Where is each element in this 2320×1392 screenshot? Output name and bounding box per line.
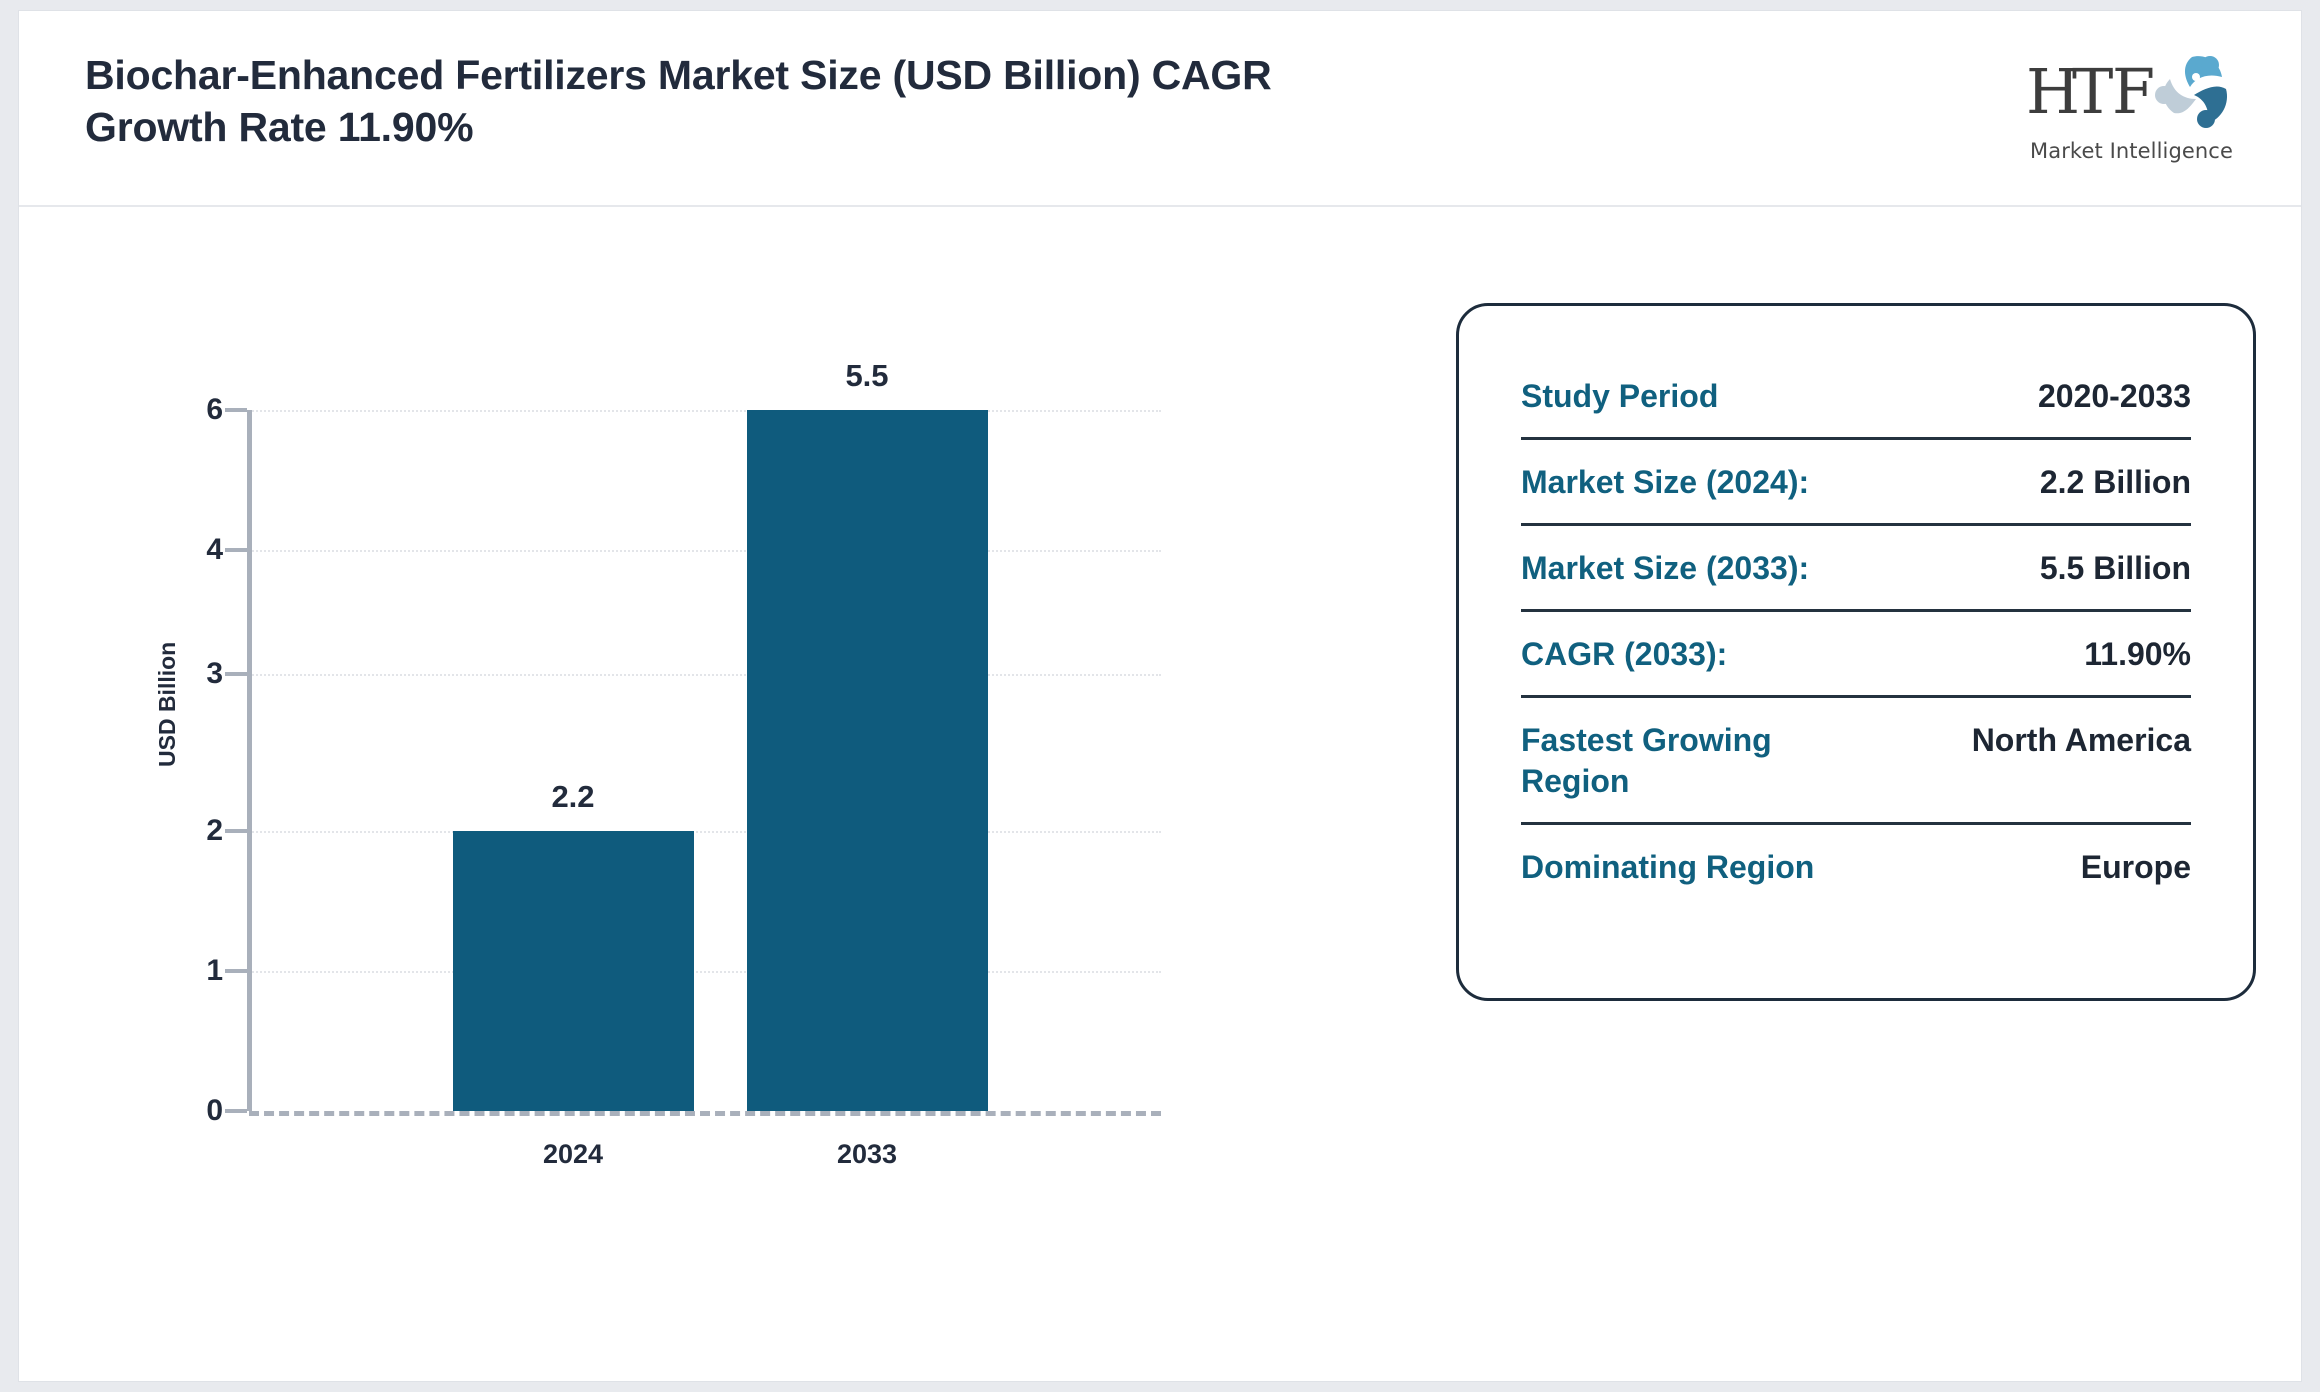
y-axis-tick-mark [225,408,247,412]
logo-mark-svg: H T F [2024,47,2239,133]
summary-row: Fastest Growing RegionNorth America [1521,698,2191,825]
summary-row-value: 2.2 Billion [2040,462,2191,503]
svg-text:T: T [2072,55,2113,128]
summary-row: Market Size (2033):5.5 Billion [1521,526,2191,612]
chart-gridline [249,550,1161,552]
summary-row-value: 5.5 Billion [2040,548,2191,589]
y-axis-tick-label: 2 [177,814,223,848]
y-axis-tick-mark [225,829,247,833]
market-summary-panel: Study Period2020-2033Market Size (2024):… [1456,303,2256,1001]
chart-plot-area: USD Billion 0123462.220245.52033 [19,207,1419,1377]
header: Biochar-Enhanced Fertilizers Market Size… [19,11,2301,207]
summary-row-value: 2020-2033 [2038,376,2191,417]
x-axis-tick-label: 2033 [837,1139,897,1170]
summary-row: Dominating RegionEurope [1521,825,2191,908]
report-card: Biochar-Enhanced Fertilizers Market Size… [18,10,2302,1382]
x-axis-baseline [249,1111,1161,1116]
summary-row-label: Dominating Region [1521,847,1814,888]
summary-row-label: CAGR (2033): [1521,634,1727,675]
y-axis-tick-label: 4 [177,533,223,567]
chart-bar[interactable] [747,410,988,1111]
chart-gridline [249,674,1161,676]
summary-row-label: Study Period [1521,376,1718,417]
y-axis-tick-label: 6 [177,393,223,427]
summary-row: Market Size (2024):2.2 Billion [1521,440,2191,526]
summary-row-label: Market Size (2024): [1521,462,1809,503]
y-axis-tick-label: 3 [177,657,223,691]
y-axis-tick-mark [225,969,247,973]
summary-row: Study Period2020-2033 [1521,368,2191,440]
summary-row-value: Europe [2081,847,2191,888]
bar-value-label: 5.5 [845,358,888,394]
chart-gridline [249,410,1161,412]
y-axis-tick-label: 1 [177,954,223,988]
svg-text:F: F [2112,55,2155,128]
y-axis-tick-label: 0 [177,1094,223,1128]
y-axis-tick-mark [225,672,247,676]
logo-tagline: Market Intelligence [2024,139,2239,163]
y-axis-tick-mark [225,548,247,552]
summary-row-label: Market Size (2033): [1521,548,1809,589]
summary-row-value: North America [1972,720,2191,761]
y-axis-line [247,410,252,1111]
summary-row: CAGR (2033):11.90% [1521,612,2191,698]
chart-gridline [249,831,1161,833]
summary-row-value: 11.90% [2084,634,2191,675]
chart-gridline [249,971,1161,973]
chart-bar[interactable] [453,831,694,1111]
x-axis-tick-label: 2024 [543,1139,603,1170]
y-axis-tick-mark [225,1109,247,1113]
summary-row-label: Fastest Growing Region [1521,720,1851,802]
page-title: Biochar-Enhanced Fertilizers Market Size… [85,49,1415,154]
htf-market-intelligence-logo: H T F Market Intelligen [2024,47,2239,165]
bar-chart: USD Billion 0123462.220245.52033 [19,207,1419,1377]
bar-value-label: 2.2 [551,779,594,815]
